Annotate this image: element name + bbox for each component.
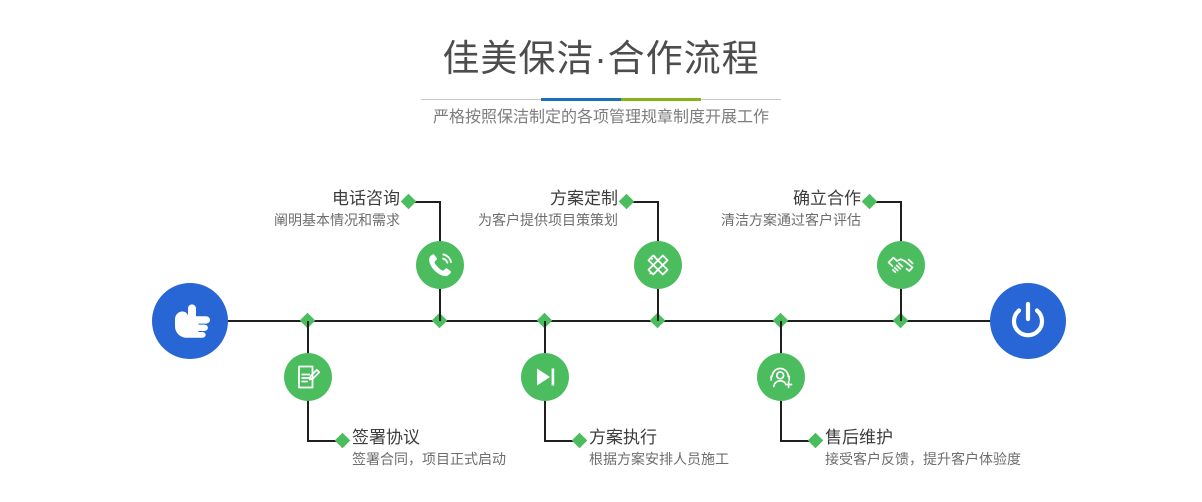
step-icon-handshake — [877, 241, 925, 289]
step-icon-document-edit — [284, 353, 332, 401]
power-icon — [1007, 300, 1049, 342]
step-title: 确立合作 — [580, 188, 861, 210]
play-execute-icon — [531, 363, 559, 391]
step-desc: 清洁方案通过客户评估 — [580, 210, 861, 230]
step-title: 售后维护 — [825, 427, 1155, 449]
step-label-above-3: 确立合作 清洁方案通过客户评估 — [580, 188, 861, 230]
step-icon-customer-support — [757, 353, 805, 401]
step-desc: 接受客户反馈，提升客户体验度 — [825, 449, 1155, 469]
step-desc: 为客户提供项目策策划 — [320, 210, 618, 230]
step-icon-pencil-ruler — [634, 241, 682, 289]
pointing-hand-icon — [168, 301, 212, 341]
step-label-above-2: 方案定制 为客户提供项目策策划 — [320, 188, 618, 230]
handshake-icon — [886, 250, 916, 280]
phone-call-icon — [425, 250, 455, 280]
pencil-ruler-icon — [644, 251, 672, 279]
timeline-end-node — [990, 283, 1066, 359]
step-icon-phone-call — [416, 241, 464, 289]
step-label-below-3: 售后维护 接受客户反馈，提升客户体验度 — [825, 427, 1155, 469]
customer-support-icon — [767, 363, 795, 391]
timeline-diagram: 电话咨询 阐明基本情况和需求 方案定制 为客户提供项目策策划 — [0, 0, 1202, 502]
branch-marker — [862, 194, 878, 210]
process-flow-infographic: 佳美保洁·合作流程 严格按照保洁制定的各项管理规章制度开展工作 — [0, 0, 1202, 502]
step-title: 方案定制 — [320, 188, 618, 210]
branch-marker — [335, 433, 351, 449]
document-edit-icon — [294, 363, 322, 391]
timeline-start-node — [152, 283, 228, 359]
step-icon-play-execute — [521, 353, 569, 401]
